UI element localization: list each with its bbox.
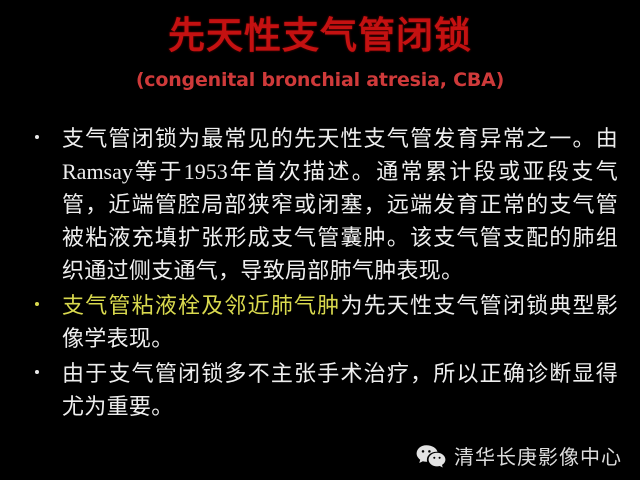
bullet-text: 由于支气管闭锁多不主张手术治疗，所以正确诊断显得尤为重要。 — [62, 357, 618, 423]
bullet-marker-icon — [35, 135, 39, 139]
bullet-text-latin: 1953 — [184, 159, 228, 184]
bullet-text: 支气管粘液栓及邻近肺气肿为先天性支气管闭锁典型影像学表现。 — [62, 289, 618, 355]
bullet-text: 支气管闭锁为最常见的先天性支气管发育异常之一。由Ramsay等于1953年首次描… — [62, 122, 618, 287]
bullet-text-latin: Ramsay — [62, 159, 133, 184]
watermark-label: 清华长庚影像中心 — [454, 446, 622, 468]
bullet-list: 支气管闭锁为最常见的先天性支气管发育异常之一。由Ramsay等于1953年首次描… — [28, 122, 618, 425]
bullet-text-span: 等于 — [133, 159, 184, 184]
bullet-marker-icon — [35, 370, 39, 374]
bullet-item: 由于支气管闭锁多不主张手术治疗，所以正确诊断显得尤为重要。 — [28, 357, 618, 423]
presentation-slide: 先天性支气管闭锁 (congenital bronchial atresia, … — [0, 0, 640, 480]
bullet-text-span: 由于支气管闭锁多不主张手术治疗，所以正确诊断显得尤为重要。 — [62, 361, 618, 419]
watermark: 清华长庚影像中心 — [416, 444, 622, 470]
page-subtitle: (congenital bronchial atresia, CBA) — [0, 68, 640, 92]
bullet-item: 支气管粘液栓及邻近肺气肿为先天性支气管闭锁典型影像学表现。 — [28, 289, 618, 355]
bullet-item: 支气管闭锁为最常见的先天性支气管发育异常之一。由Ramsay等于1953年首次描… — [28, 122, 618, 287]
bullet-text-highlight: 支气管粘液栓及邻近肺气肿 — [62, 293, 340, 318]
bullet-marker-icon — [35, 302, 39, 306]
wechat-icon — [416, 444, 446, 470]
title-block: 先天性支气管闭锁 (congenital bronchial atresia, … — [0, 14, 640, 92]
bullet-text-span: 支气管闭锁为最常见的先天性支气管发育异常之一。由 — [62, 126, 618, 151]
page-title: 先天性支气管闭锁 — [0, 14, 640, 60]
